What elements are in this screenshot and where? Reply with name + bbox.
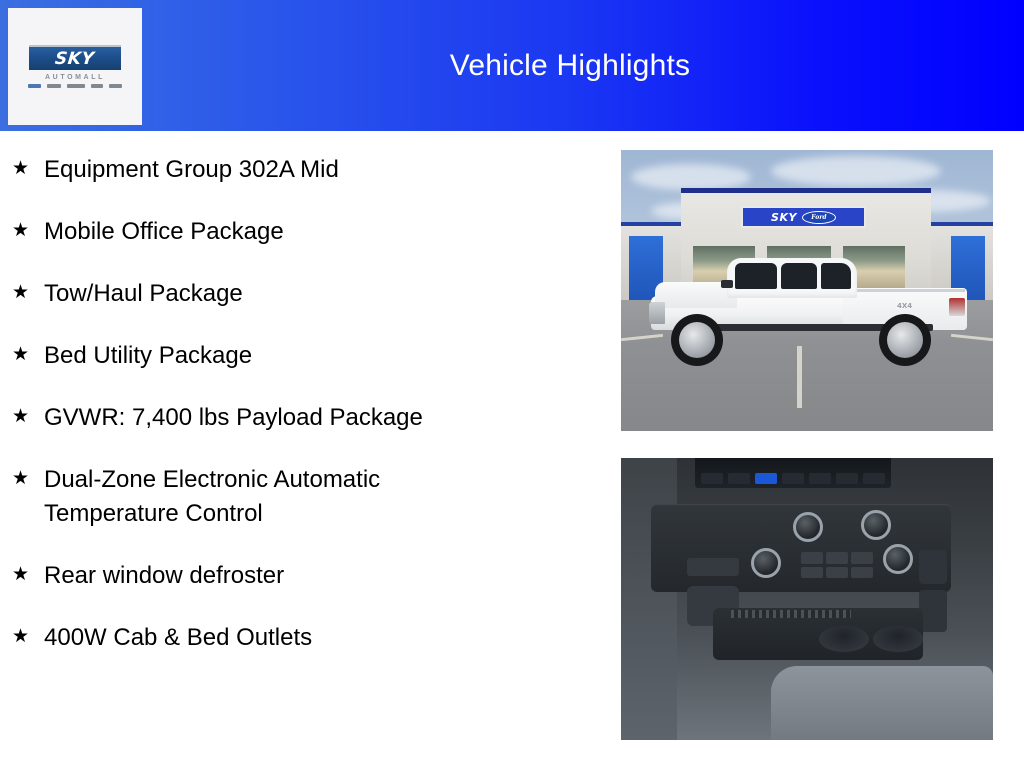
hvac-button [851, 567, 873, 579]
vehicle-highlights-slide: Vehicle Highlights SKY AUTOMALL ★ Equipm… [0, 0, 1024, 768]
door-panel [621, 458, 677, 740]
interior-console-photo[interactable] [621, 458, 993, 740]
dealer-logo-card[interactable]: SKY AUTOMALL [8, 8, 142, 125]
list-item: ★ Equipment Group 302A Mid [12, 153, 600, 187]
page-title: Vehicle Highlights [200, 0, 940, 131]
star-icon: ★ [12, 559, 44, 589]
hazard-button [919, 550, 947, 584]
list-item: ★ GVWR: 7,400 lbs Payload Package [12, 401, 600, 435]
ford-oval-icon: Ford [802, 211, 836, 224]
list-item-label: Tow/Haul Package [44, 277, 243, 311]
list-item-label: Equipment Group 302A Mid [44, 153, 339, 187]
screen-button-row [701, 472, 885, 485]
list-item: ★ 400W Cab & Bed Outlets [12, 621, 600, 655]
truck-grille [649, 302, 665, 324]
automall-logo-text: AUTOMALL [45, 74, 105, 81]
front-wheel [671, 314, 723, 366]
star-icon: ★ [12, 463, 44, 493]
cloud-shape [631, 164, 751, 190]
star-icon: ★ [12, 153, 44, 183]
header-banner: Vehicle Highlights [0, 0, 1024, 131]
volume-knob [883, 544, 913, 574]
jeep-brand-icon [91, 84, 103, 88]
climate-control-panel [651, 504, 951, 592]
list-item-label: Rear window defroster [44, 559, 284, 593]
brand-icon-5 [109, 84, 122, 88]
truck-illustration: 4X4 [643, 258, 973, 368]
sky-logo-badge: SKY [29, 45, 121, 70]
console-vent-slots [731, 610, 851, 618]
highlights-list: ★ Equipment Group 302A Mid ★ Mobile Offi… [0, 145, 600, 765]
passenger-seat [771, 666, 993, 740]
screen-key [809, 473, 831, 484]
list-item: ★ Tow/Haul Package [12, 277, 600, 311]
list-item: ★ Rear window defroster [12, 559, 600, 593]
list-item-label: 400W Cab & Bed Outlets [44, 621, 312, 655]
cloud-shape [771, 156, 941, 186]
list-item-label: Dual-Zone Electronic Automatic Temperatu… [44, 463, 380, 531]
cup-holder [873, 626, 923, 652]
touchscreen-display [695, 458, 891, 488]
rear-wheel [879, 314, 931, 366]
trailer-brake-button [919, 590, 947, 632]
list-item: ★ Dual-Zone Electronic Automatic Tempera… [12, 463, 600, 531]
hvac-button-grid [801, 552, 873, 578]
screen-key [701, 473, 723, 484]
tail-light [949, 298, 965, 316]
star-icon: ★ [12, 621, 44, 651]
hvac-button [851, 552, 873, 564]
logo-inner: SKY AUTOMALL [27, 45, 123, 88]
star-icon: ★ [12, 277, 44, 307]
brand-logos-strip [28, 84, 122, 88]
screen-key [836, 473, 858, 484]
brand-icon-3 [67, 84, 85, 88]
temperature-knob-left [793, 512, 823, 542]
truck-bed-rail [845, 289, 965, 292]
dealer-sign-text: SKY [771, 211, 797, 224]
hvac-button [801, 552, 823, 564]
star-icon: ★ [12, 339, 44, 369]
cup-holder [819, 626, 869, 652]
brand-icon-2 [47, 84, 61, 88]
star-icon: ★ [12, 215, 44, 245]
screen-key-active [755, 473, 777, 484]
dealer-sign: SKY Ford [741, 206, 866, 228]
list-item-label: GVWR: 7,400 lbs Payload Package [44, 401, 423, 435]
truck-window [735, 263, 777, 289]
screen-key [782, 473, 804, 484]
truck-window [781, 263, 817, 289]
hvac-button [826, 552, 848, 564]
four-by-four-badge: 4X4 [897, 302, 912, 310]
ford-brand-icon [28, 84, 41, 88]
screen-key [863, 473, 885, 484]
sky-logo-text: SKY [54, 49, 95, 69]
truck-window [821, 263, 851, 289]
list-item: ★ Mobile Office Package [12, 215, 600, 249]
screen-key [728, 473, 750, 484]
hvac-button [801, 567, 823, 579]
list-item-label: Bed Utility Package [44, 339, 252, 373]
seat-heater-buttons [687, 558, 739, 576]
exterior-truck-photo[interactable]: SKY Ford 4X4 [621, 150, 993, 431]
hvac-button [826, 567, 848, 579]
list-item: ★ Bed Utility Package [12, 339, 600, 373]
star-icon: ★ [12, 401, 44, 431]
side-mirror [721, 280, 733, 288]
fan-speed-knob [751, 548, 781, 578]
temperature-knob-right [861, 510, 891, 540]
list-item-label: Mobile Office Package [44, 215, 284, 249]
